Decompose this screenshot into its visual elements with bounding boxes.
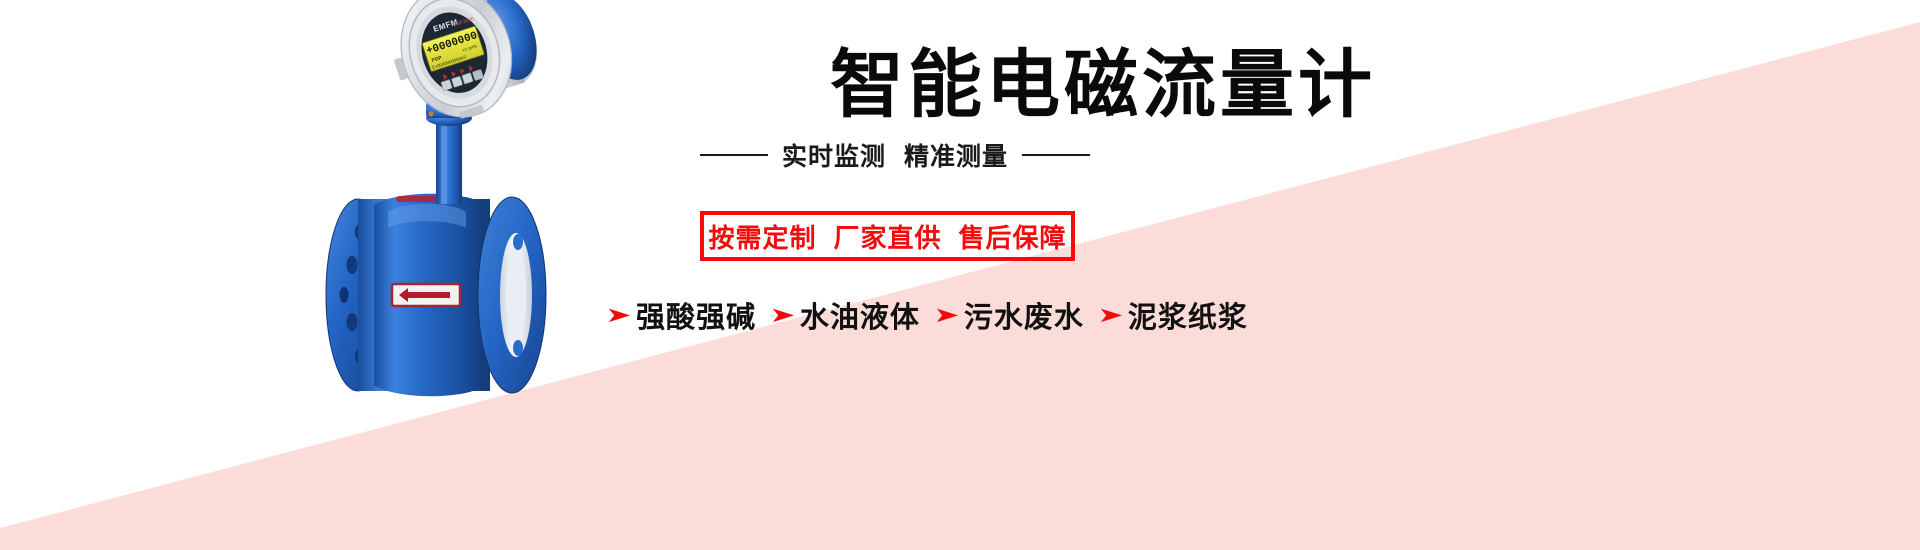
- arrow-right-icon: ➤: [1097, 304, 1123, 325]
- subtitle-left-rule: [700, 154, 768, 156]
- flow-direction-label: [392, 284, 460, 306]
- arrow-right-icon: ➤: [769, 304, 795, 325]
- flowmeter-product-image: EMFM EMF3000 +0000000 FGP ×1 m³/h Σ+0000…: [300, 0, 640, 430]
- right-flange: [478, 197, 546, 393]
- promo-item-two: 厂家直供: [833, 223, 941, 253]
- application-item: ➤ 强酸强碱: [608, 294, 756, 336]
- banner-text-column: 智能电磁流量计 实时监测精准测量 按需定制厂家直供售后保障 ➤ 强酸强碱 ➤ 水…: [660, 0, 1420, 550]
- application-label: 强酸强碱: [636, 294, 756, 336]
- promo-item-one: 按需定制: [708, 223, 816, 253]
- application-list: ➤ 强酸强碱 ➤ 水油液体 ➤ 污水废水 ➤ 泥浆纸浆: [608, 294, 1264, 336]
- application-label: 泥浆纸浆: [1128, 294, 1248, 336]
- subtitle-right-rule: [1022, 154, 1090, 156]
- arrow-right-icon: ➤: [933, 304, 959, 325]
- page-title: 智能电磁流量计: [830, 48, 1376, 122]
- application-item: ➤ 水油液体: [772, 294, 920, 336]
- application-item: ➤ 污水废水: [936, 294, 1084, 336]
- promo-item-three: 售后保障: [959, 223, 1067, 253]
- subtitle-part-two: 精准测量: [904, 143, 1008, 171]
- transmitter-housing: EMFM EMF3000 +0000000 FGP ×1 m³/h Σ+0000…: [376, 0, 552, 134]
- subtitle-row: 实时监测精准测量: [700, 137, 1120, 173]
- promo-text: 按需定制厂家直供售后保障: [708, 218, 1066, 255]
- application-label: 污水废水: [964, 294, 1084, 336]
- arrow-right-icon: ➤: [605, 304, 631, 325]
- product-banner: EMFM EMF3000 +0000000 FGP ×1 m³/h Σ+0000…: [0, 0, 1920, 550]
- subtitle-part-one: 实时监测: [782, 143, 886, 171]
- promo-badge-box: 按需定制厂家直供售后保障: [700, 211, 1075, 261]
- subtitle-text: 实时监测精准测量: [782, 137, 1008, 173]
- application-item: ➤ 泥浆纸浆: [1100, 294, 1248, 336]
- application-label: 水油液体: [800, 294, 920, 336]
